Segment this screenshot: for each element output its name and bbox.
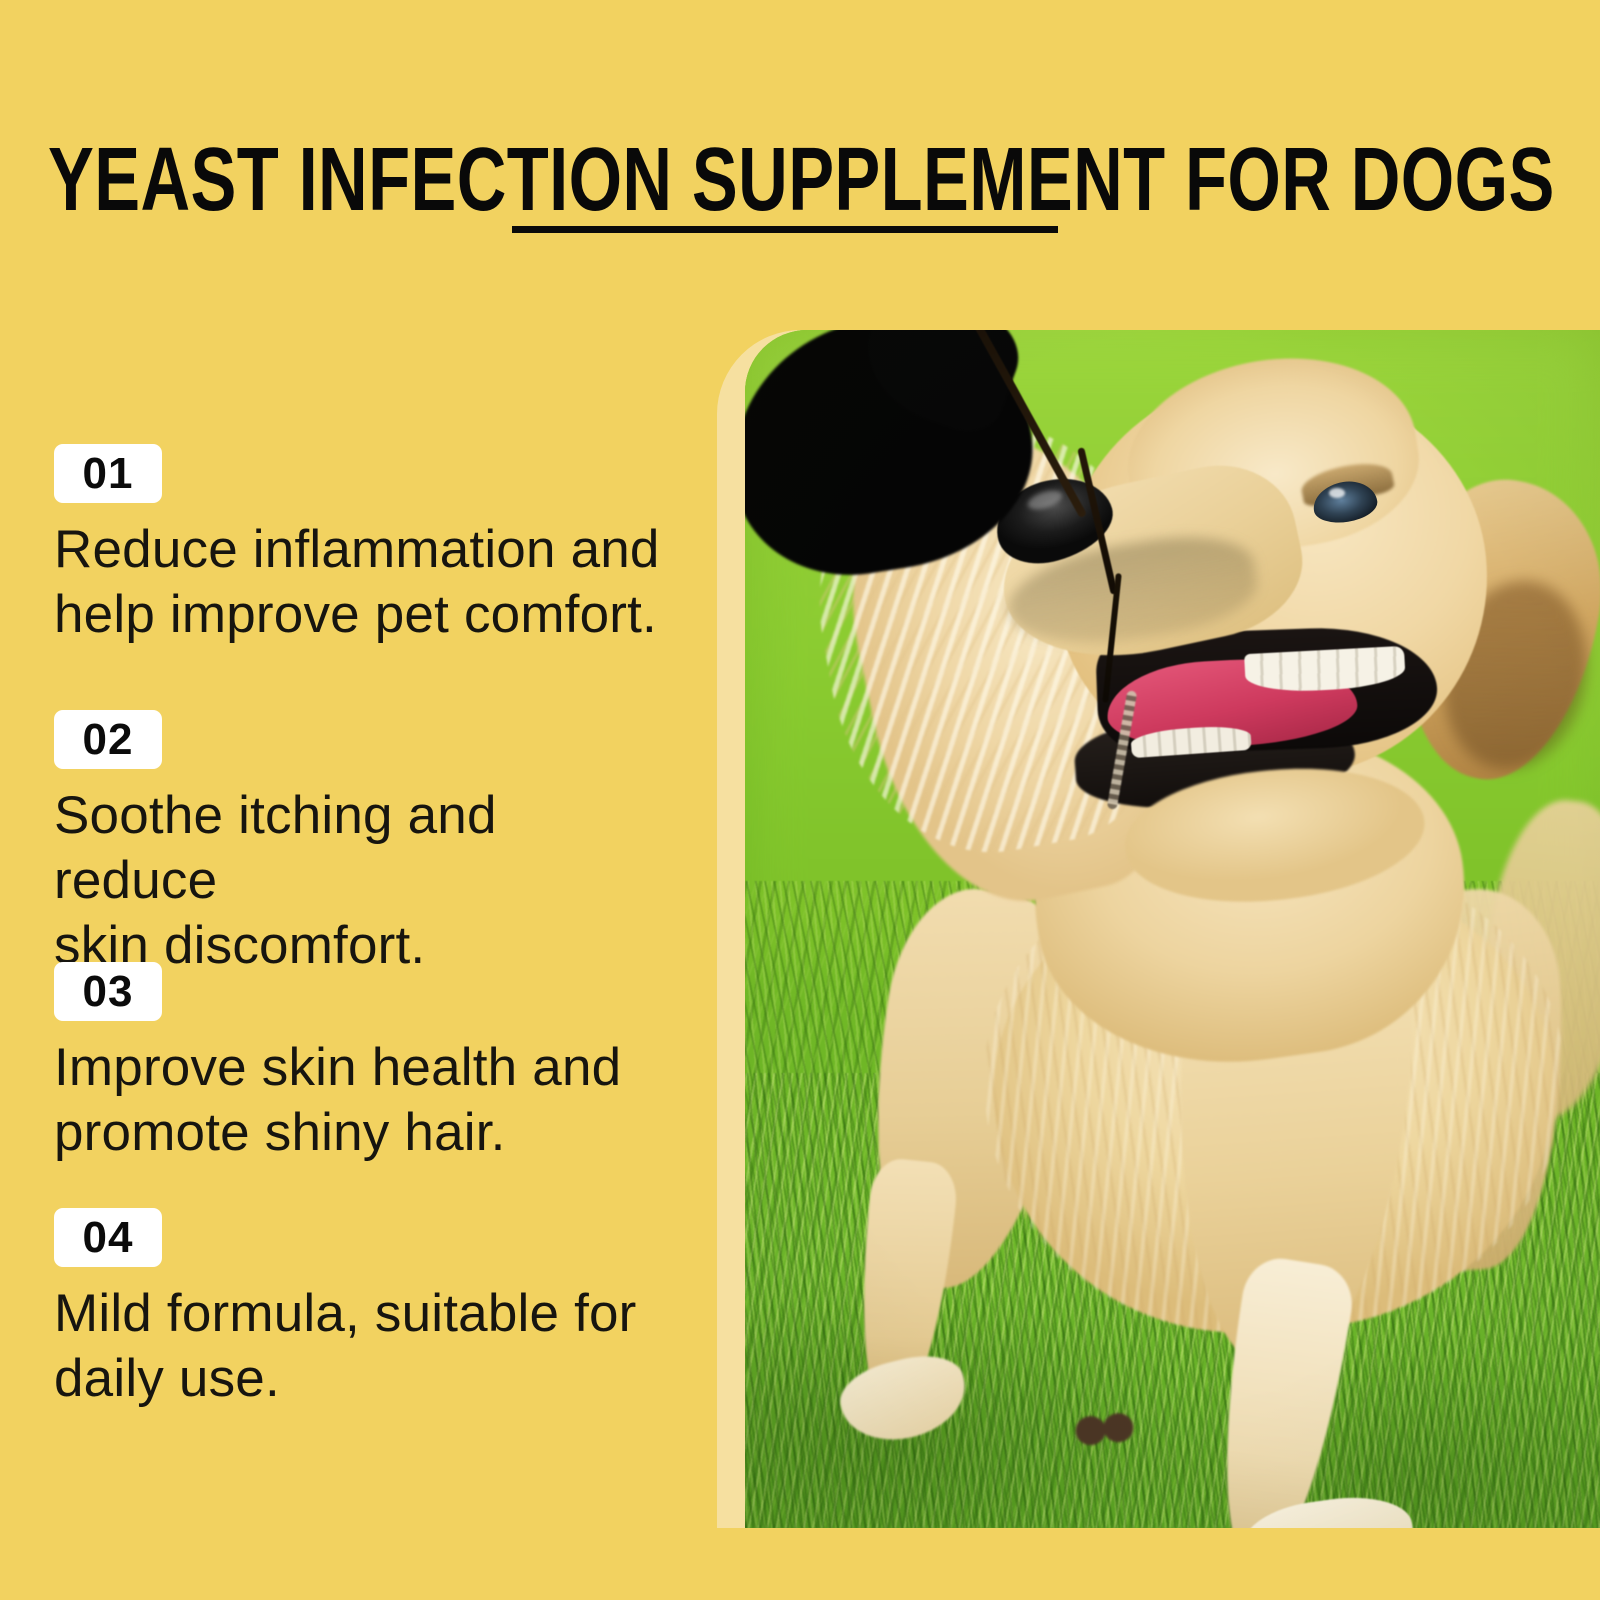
benefit-description: Mild formula, suitable for daily use. xyxy=(54,1281,674,1411)
benefit-number-badge: 04 xyxy=(54,1208,162,1267)
benefit-description: Soothe itching and reduce skin discomfor… xyxy=(54,783,674,978)
benefit-description: Reduce inflammation and help improve pet… xyxy=(54,517,674,647)
benefit-number-badge: 02 xyxy=(54,710,162,769)
benefit-item-01: 01 Reduce inflammation and help improve … xyxy=(54,444,694,647)
benefits-list: 01 Reduce inflammation and help improve … xyxy=(0,0,700,1600)
photo-vignette xyxy=(745,330,1600,1528)
benefit-item-03: 03 Improve skin health and promote shiny… xyxy=(54,962,694,1165)
benefit-item-04: 04 Mild formula, suitable for daily use. xyxy=(54,1208,694,1411)
benefit-number-badge: 03 xyxy=(54,962,162,1021)
benefit-number-badge: 01 xyxy=(54,444,162,503)
dog-photo xyxy=(745,330,1600,1528)
poster-canvas: YEAST INFECTION SUPPLEMENT FOR DOGS 01 R… xyxy=(0,0,1600,1600)
benefit-item-02: 02 Soothe itching and reduce skin discom… xyxy=(54,710,694,978)
photo-frame xyxy=(717,330,1600,1528)
benefit-description: Improve skin health and promote shiny ha… xyxy=(54,1035,674,1165)
